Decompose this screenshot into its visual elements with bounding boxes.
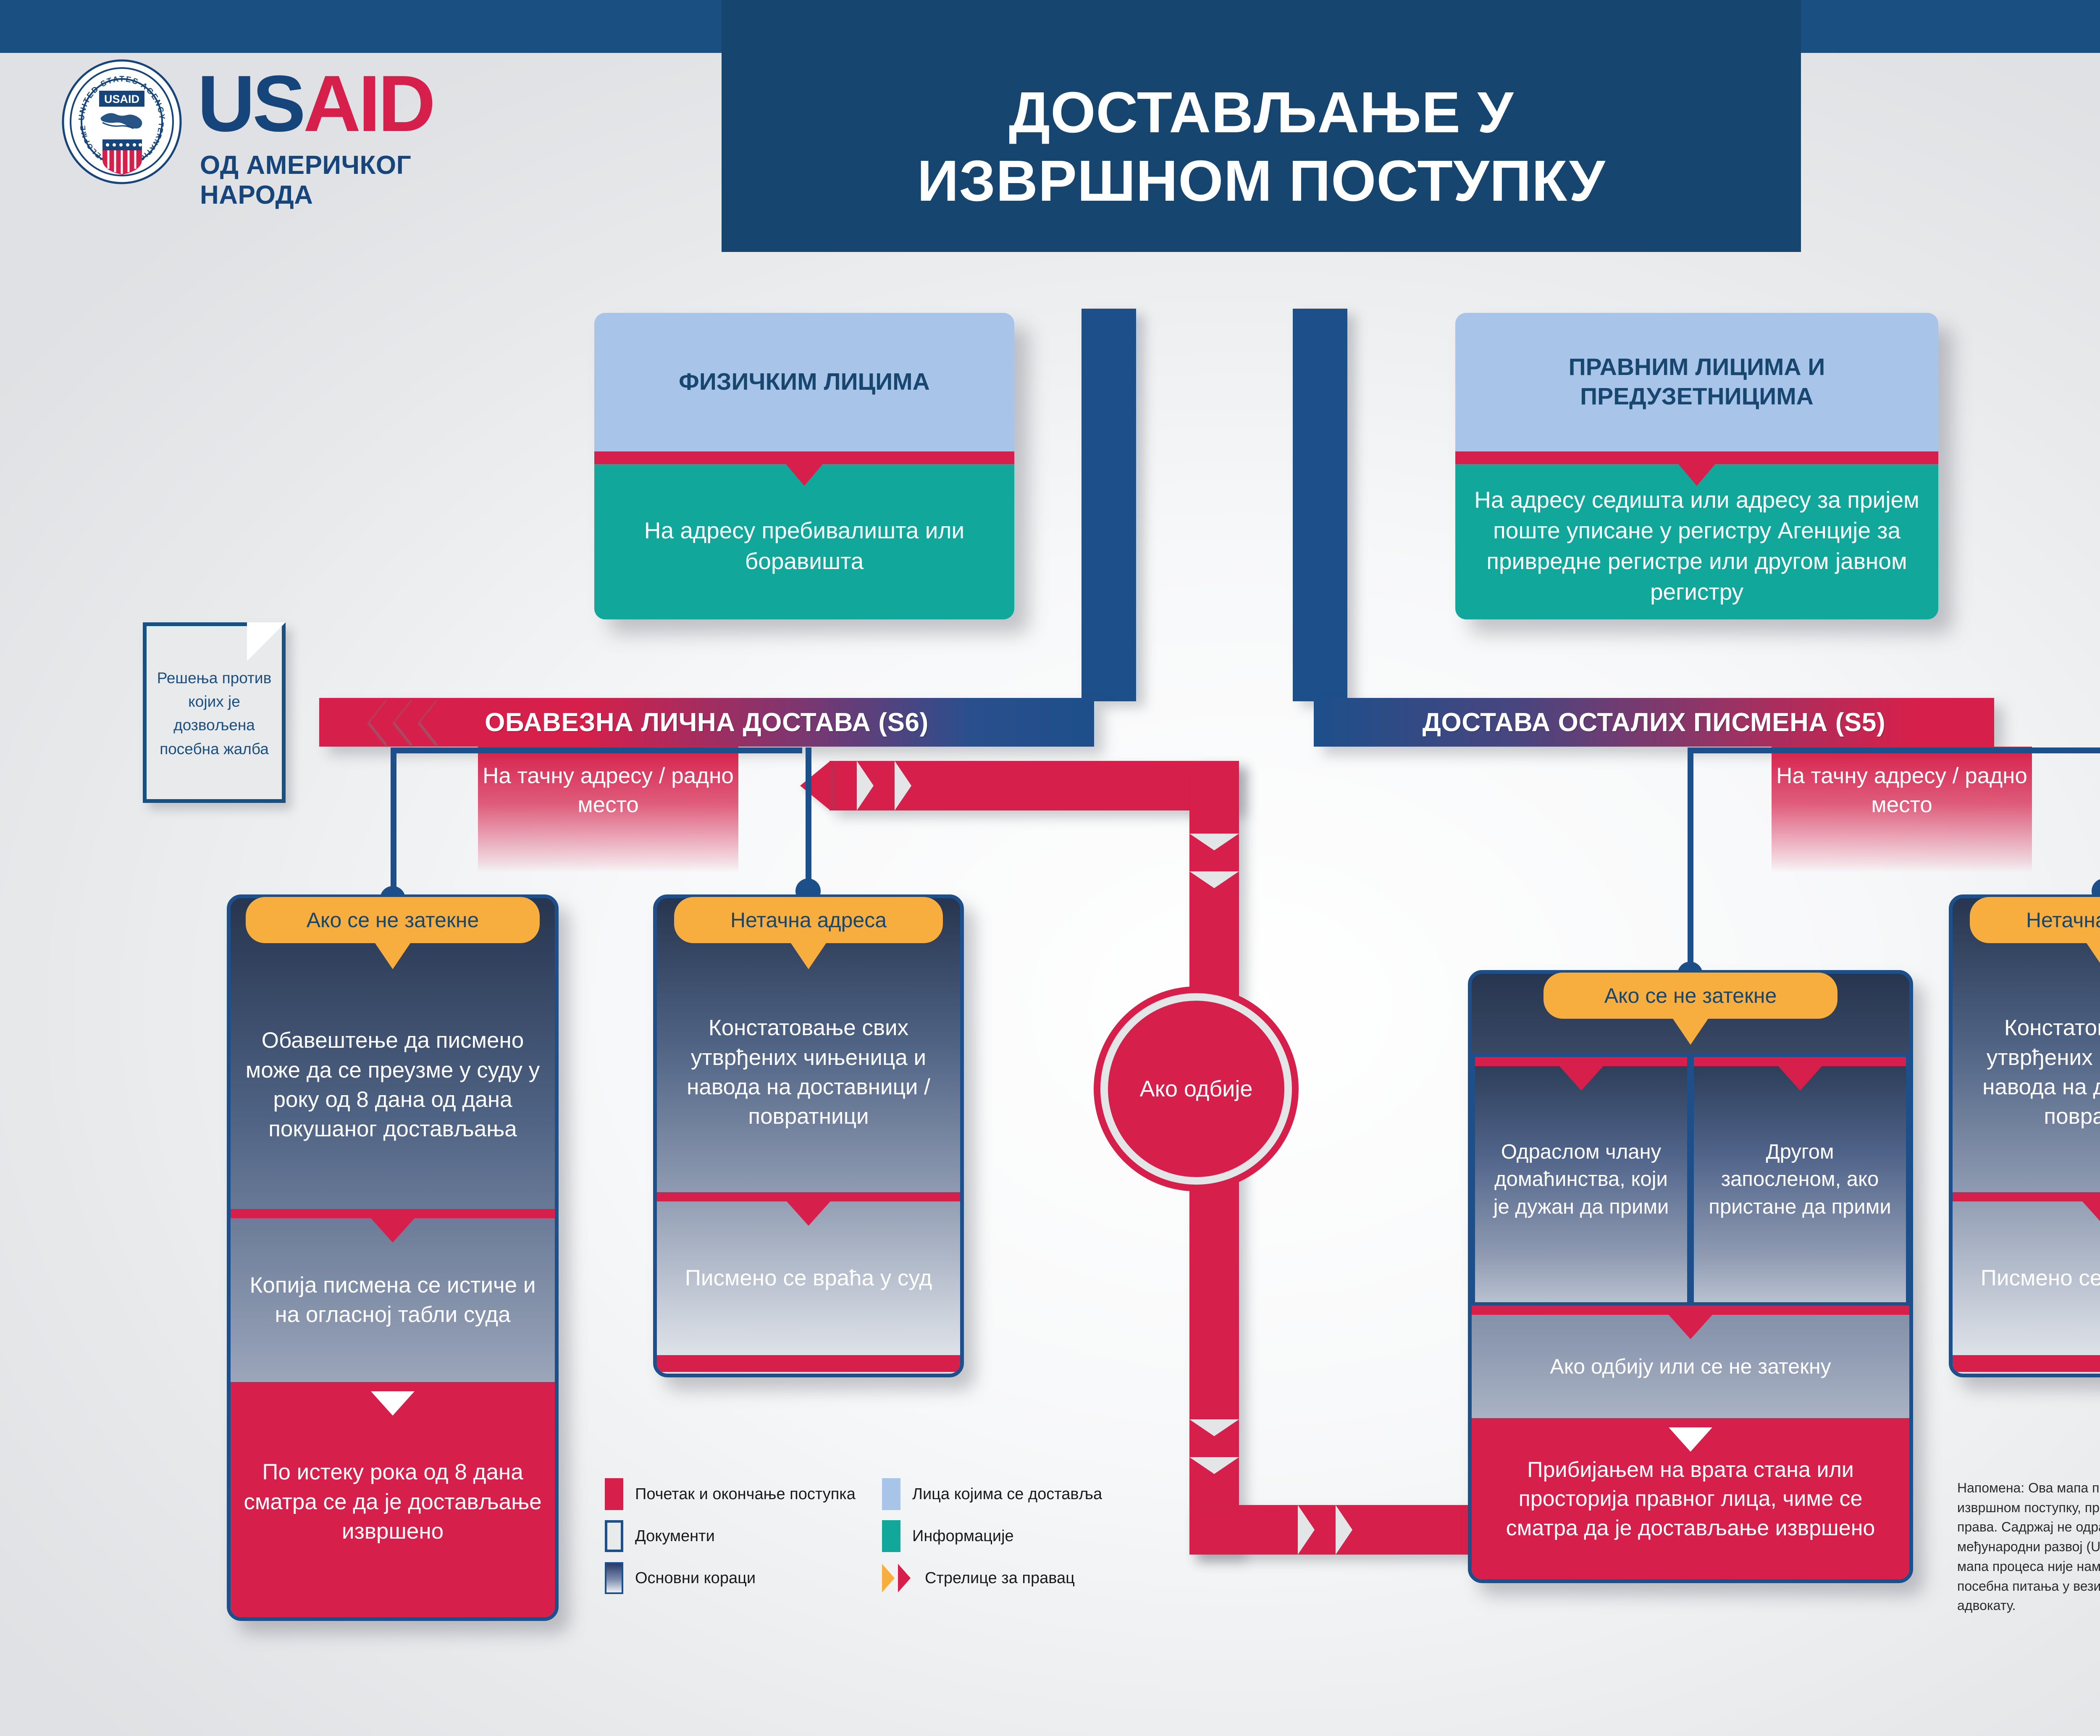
card-L1-divider-1	[231, 1209, 555, 1218]
card-left-not-found: Обавештење да писмено може да се преузме…	[227, 894, 559, 1621]
card-R1-col-left-text: Одраслом члану домаћинства, који је дужа…	[1475, 1066, 1687, 1272]
banner-s5-label: ДОСТАВА ОСТАЛИХ ПИСМЕНА (S5)	[1314, 698, 1994, 747]
card-L2-pill: Нетачна адреса	[674, 897, 943, 943]
legend-swatch-red	[605, 1478, 623, 1510]
card-R1-pill-label: Ако се не затекне	[1604, 983, 1777, 1008]
legend-swatch-teal	[882, 1520, 900, 1552]
topbox-individuals-heading: ФИЗИЧКИМ ЛИЦИМА	[594, 313, 1014, 451]
footnote: Напомена: Ова мапа процеса достављања су…	[1957, 1478, 2100, 1615]
connector-line-r1-top	[1688, 747, 2100, 753]
chevron-down-icon	[1189, 834, 1239, 850]
card-R1-col-right: Другом запосленом, ако пристане да прими	[1690, 1054, 1909, 1306]
topbox-individuals-divider	[594, 451, 1014, 464]
chevron-right-icon	[1336, 1505, 1352, 1555]
red-path-horizontal-top	[829, 761, 1239, 810]
address-label-right: На тачну адресу / радно место	[1772, 747, 2032, 873]
arrow-red-icon	[898, 1564, 911, 1592]
chevron-down-icon	[1189, 871, 1239, 888]
legend-item-direction-arrows: Стрелице за правац	[882, 1562, 1075, 1594]
card-L2-divider-1	[657, 1192, 960, 1201]
usaid-wordmark-aid: AID	[303, 59, 433, 148]
chevron-right-icon	[895, 761, 911, 810]
legend-item-basic-steps: Основни кораци	[605, 1562, 756, 1594]
legend: Почетак и окончање поступка Лица којима …	[605, 1478, 1142, 1587]
legend-label-recipients: Лица којима се доставља	[912, 1485, 1102, 1503]
usaid-seal-icon: UNITED STATES AGENCY INTERNATIONAL DEVEL…	[59, 59, 185, 185]
card-R2-bottom-strip	[1953, 1355, 2100, 1372]
topbox-legal-heading: ПРАВНИМ ЛИЦИМА И ПРЕДУЗЕТНИЦИМА	[1455, 313, 1938, 451]
chevron-icon	[395, 698, 414, 747]
topbox-legal-body: На адресу седишта или адресу за пријем п…	[1455, 464, 1938, 619]
card-R1-col-left-divider	[1475, 1057, 1687, 1066]
card-R1-two-columns: Одраслом члану домаћинства, који је дужа…	[1472, 1054, 1909, 1306]
legend-label-information: Информације	[912, 1527, 1014, 1545]
infographic-canvas: ДОСТАВЉАЊЕ У ИЗВРШНОМ ПОСТУПКУ UNITED ST…	[0, 0, 2100, 1736]
connector-line-l1-top	[391, 747, 802, 753]
legend-item-recipients: Лица којима се доставља	[882, 1478, 1102, 1510]
legend-label-basic-steps: Основни кораци	[635, 1569, 756, 1587]
card-R1-col-left: Одраслом члану домаћинства, који је дужа…	[1472, 1054, 1690, 1306]
card-right-wrong-address: Констатовање свих утврђених чињеница и н…	[1949, 894, 2100, 1377]
card-R2-pill: Нетачна адреса	[1970, 897, 2100, 943]
card-L1-pill: Ако се не затекне	[246, 897, 540, 943]
legend-swatch-light-blue	[882, 1478, 900, 1510]
card-right-not-found: Одраслом члану домаћинства, који је дужа…	[1468, 970, 1913, 1583]
chevron-icon	[370, 698, 389, 747]
connector-stem-right	[1293, 309, 1347, 701]
connector-line-r1	[1688, 747, 1693, 974]
legend-swatch-gradient	[605, 1562, 623, 1594]
chevron-icon	[420, 698, 439, 747]
address-label-left: На тачну адресу / радно место	[478, 747, 738, 873]
document-note: Решења против којих је дозвољена посебна…	[143, 622, 286, 803]
card-R1-divider-mid	[1472, 1306, 1909, 1315]
usaid-wordmark-us: US	[197, 59, 303, 148]
card-R1-pill: Ако се не затекне	[1543, 973, 1837, 1019]
card-R1-col-right-divider	[1694, 1057, 1906, 1066]
connector-line-l1	[391, 747, 396, 903]
red-path-arrowhead-left-icon	[800, 761, 830, 810]
card-L1-pill-label: Ако се не затекне	[307, 908, 479, 932]
address-label-left-text: На тачну адресу / радно место	[478, 747, 738, 820]
legend-item-documents: Документи	[605, 1520, 715, 1552]
page-title-line2: ИЗВРШНОМ ПОСТУПКУ	[917, 147, 1606, 215]
connector-line-l2	[806, 747, 811, 894]
chevron-down-icon	[1189, 1457, 1239, 1474]
card-R2-pill-label: Нетачна адреса	[2026, 908, 2100, 932]
legend-label-direction-arrows: Стрелице за правац	[925, 1569, 1075, 1587]
card-L1-seg3: По истеку рока од 8 дана сматра се да је…	[231, 1382, 555, 1621]
legend-item-information: Информације	[882, 1520, 1014, 1552]
banner-s6-chevrons	[370, 698, 439, 747]
usaid-logo: UNITED STATES AGENCY INTERNATIONAL DEVEL…	[59, 55, 504, 193]
chevron-right-icon	[1298, 1505, 1315, 1555]
card-R1-col-right-text: Другом запосленом, ако пристане да прими	[1694, 1066, 1906, 1272]
address-label-right-text: На тачну адресу / радно место	[1772, 747, 2032, 820]
decision-node-if-refuses: Ако одбије	[1100, 993, 1292, 1185]
card-L2-bottom-strip	[657, 1355, 960, 1372]
page-title-line1: ДОСТАВЉАЊЕ У	[1009, 79, 1514, 147]
card-L1-seg2: Копија писмена се истиче и на огласној т…	[231, 1218, 555, 1382]
usaid-wordmark: USAID	[197, 64, 433, 144]
legend-label-start-end: Почетак и окончање поступка	[635, 1485, 856, 1503]
topbox-legal-entities: ПРАВНИМ ЛИЦИМА И ПРЕДУЗЕТНИЦИМА На адрес…	[1455, 313, 1938, 619]
usaid-tagline: ОД АМЕРИЧКОГ НАРОДА	[200, 150, 504, 210]
chevron-down-icon	[1189, 1419, 1239, 1436]
svg-text:USAID: USAID	[104, 93, 139, 105]
page-title: ДОСТАВЉАЊЕ У ИЗВРШНОМ ПОСТУПКУ	[722, 50, 1801, 244]
topbox-individuals: ФИЗИЧКИМ ЛИЦИМА На адресу пребивалишта и…	[594, 313, 1014, 619]
document-note-text: Решења против којих је дозвољена посебна…	[147, 666, 282, 761]
banner-other-documents-delivery: ДОСТАВА ОСТАЛИХ ПИСМЕНА (S5)	[1314, 698, 1994, 747]
legend-swatch-document	[605, 1520, 623, 1552]
card-L2-pill-label: Нетачна адреса	[730, 908, 887, 932]
topbox-legal-divider	[1455, 451, 1938, 464]
arrow-amber-icon	[882, 1564, 895, 1592]
legend-label-documents: Документи	[635, 1527, 715, 1545]
chevron-right-icon	[857, 761, 874, 810]
decision-node-label: Ако одбије	[1140, 1076, 1253, 1102]
card-R1-seg-end: Прибијањем на врата стана или просторија…	[1472, 1418, 1909, 1580]
topbox-individuals-body: На адресу пребивалишта или боравишта	[594, 464, 1014, 619]
legend-arrows-icon	[882, 1562, 916, 1594]
connector-stem-left	[1081, 309, 1136, 701]
card-R2-divider-1	[1953, 1192, 2100, 1201]
legend-item-start-end: Почетак и окончање поступка	[605, 1478, 856, 1510]
card-R2-seg2: Писмено се враћа у суд	[1953, 1201, 2100, 1355]
